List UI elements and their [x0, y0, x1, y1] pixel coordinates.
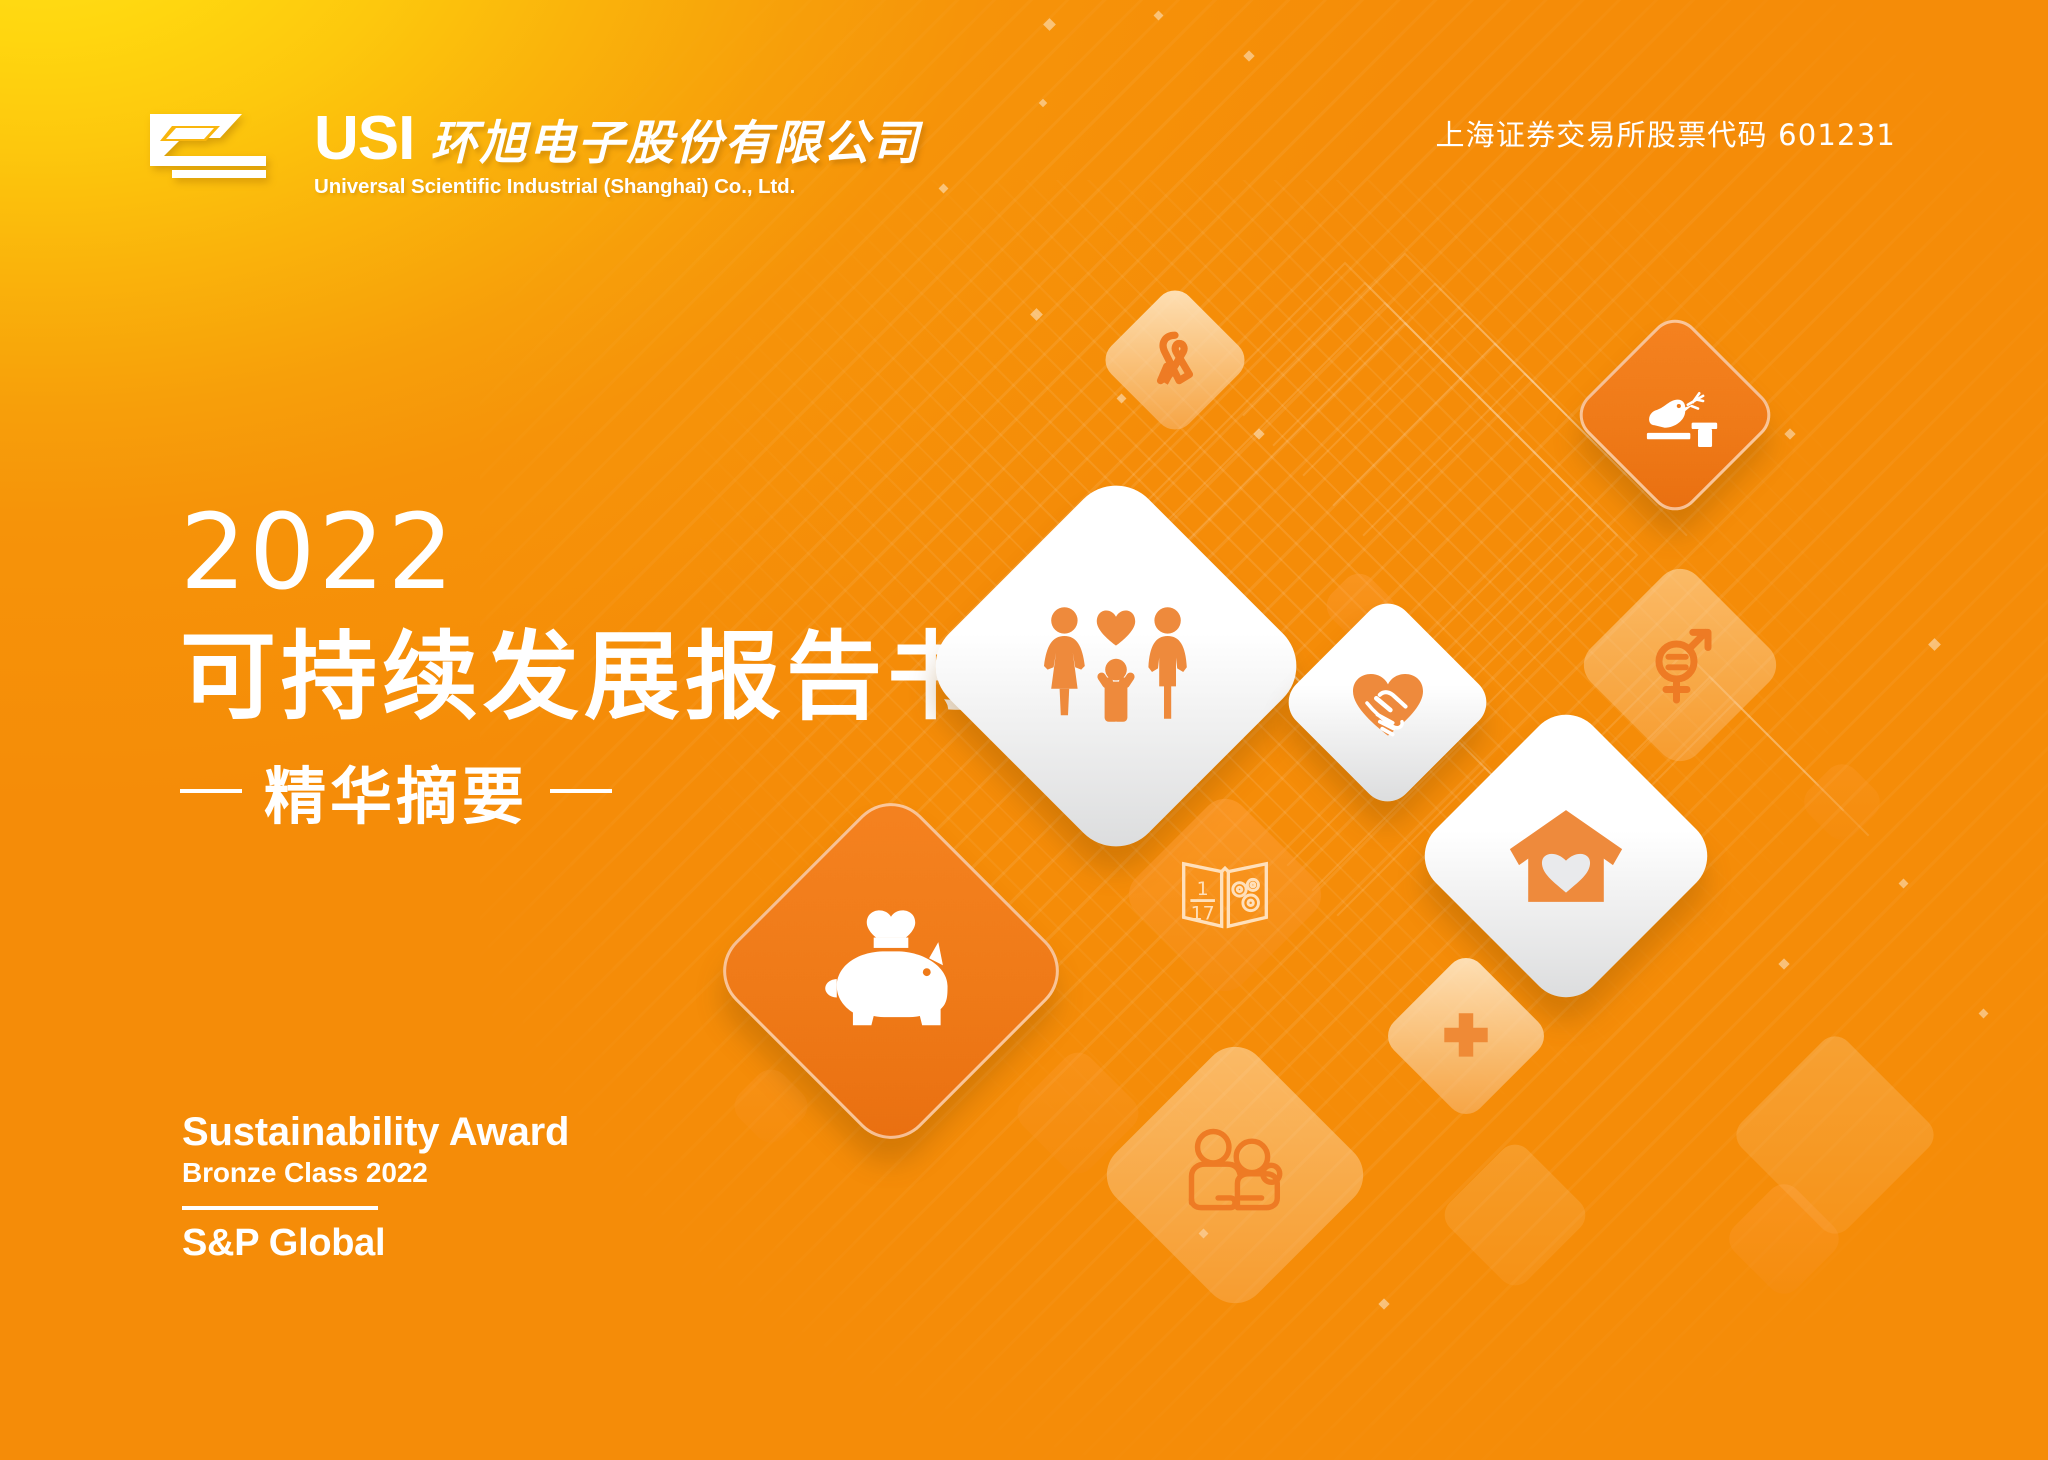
chevron-pattern — [1302, 312, 1627, 637]
badge-people — [1135, 1075, 1335, 1275]
rule-left — [180, 789, 242, 793]
home-heart-icon — [1455, 745, 1677, 967]
handshake-heart-icon — [1310, 625, 1465, 780]
badge-piggy — [760, 840, 1022, 1102]
badge-gender — [1605, 590, 1755, 740]
cover-title-block: 2022 可持续发展报告书 精华摘要 — [180, 500, 988, 836]
badge-handshake — [1310, 625, 1465, 780]
badge-family — [975, 525, 1257, 807]
company-name-en: Universal Scientific Industrial (Shangha… — [314, 175, 920, 199]
report-subtitle: 精华摘要 — [264, 746, 528, 836]
sparkle-dot — [1784, 428, 1795, 439]
sparkle-dot — [1899, 879, 1909, 889]
usi-logo[interactable]: USI 环旭电子股份有限公司 Universal Scientific Indu… — [146, 108, 920, 199]
sparkle-dot — [1378, 1298, 1389, 1309]
decorative-diamond — [1729, 1029, 1941, 1241]
sparkle-dot — [1979, 1009, 1989, 1019]
chevron-pattern — [1272, 282, 1597, 607]
sparkle-dot — [1928, 638, 1941, 651]
usi-wordmark: USI — [314, 108, 414, 170]
chevron-pattern — [1242, 252, 1567, 577]
awareness-ribbon-icon — [1120, 305, 1230, 415]
book-page-total: 17 — [1191, 903, 1215, 925]
piggy-bank-heart-icon — [760, 840, 1022, 1102]
report-cover: USI 环旭电子股份有限公司 Universal Scientific Indu… — [0, 0, 2048, 1460]
award-class: Bronze Class 2022 — [182, 1157, 569, 1189]
usi-logo-mark — [146, 108, 296, 180]
stock-code-label: 上海证券交易所股票代码 601231 — [1435, 112, 1896, 154]
medical-cross-icon — [1405, 975, 1527, 1097]
company-name-cn: 环旭电子股份有限公司 — [430, 121, 920, 169]
report-year: 2022 — [180, 500, 988, 604]
rule-right — [550, 789, 612, 793]
family-heart-icon — [975, 525, 1257, 807]
report-title: 可持续发展报告书 — [180, 626, 988, 730]
sparkle-dot — [1778, 958, 1789, 969]
open-book-gears-icon: 1 17 — [1150, 820, 1300, 970]
badge-house — [1455, 745, 1677, 967]
decorative-diamond — [1797, 757, 1888, 848]
award-title: Sustainability Award — [182, 1110, 569, 1155]
decorative-diamond — [1437, 1137, 1593, 1293]
badge-dove — [1600, 340, 1750, 490]
book-page-number: 1 — [1197, 878, 1209, 900]
badge-book: 1 17 — [1150, 820, 1300, 970]
peace-dove-gavel-icon — [1600, 340, 1750, 490]
sparkle-dot — [1030, 308, 1043, 321]
decorative-diamond — [1722, 1177, 1846, 1301]
cover-header: USI 环旭电子股份有限公司 Universal Scientific Indu… — [0, 0, 2048, 210]
two-people-icon — [1135, 1075, 1335, 1275]
sparkle-dot — [1253, 428, 1264, 439]
gender-equality-icon — [1605, 590, 1755, 740]
award-issuer: S&P Global — [182, 1222, 569, 1265]
badge-cross — [1405, 975, 1527, 1097]
badge-ribbon — [1120, 305, 1230, 415]
sp-global-award-badge: Sustainability Award Bronze Class 2022 S… — [182, 1110, 569, 1265]
award-divider — [182, 1206, 378, 1210]
